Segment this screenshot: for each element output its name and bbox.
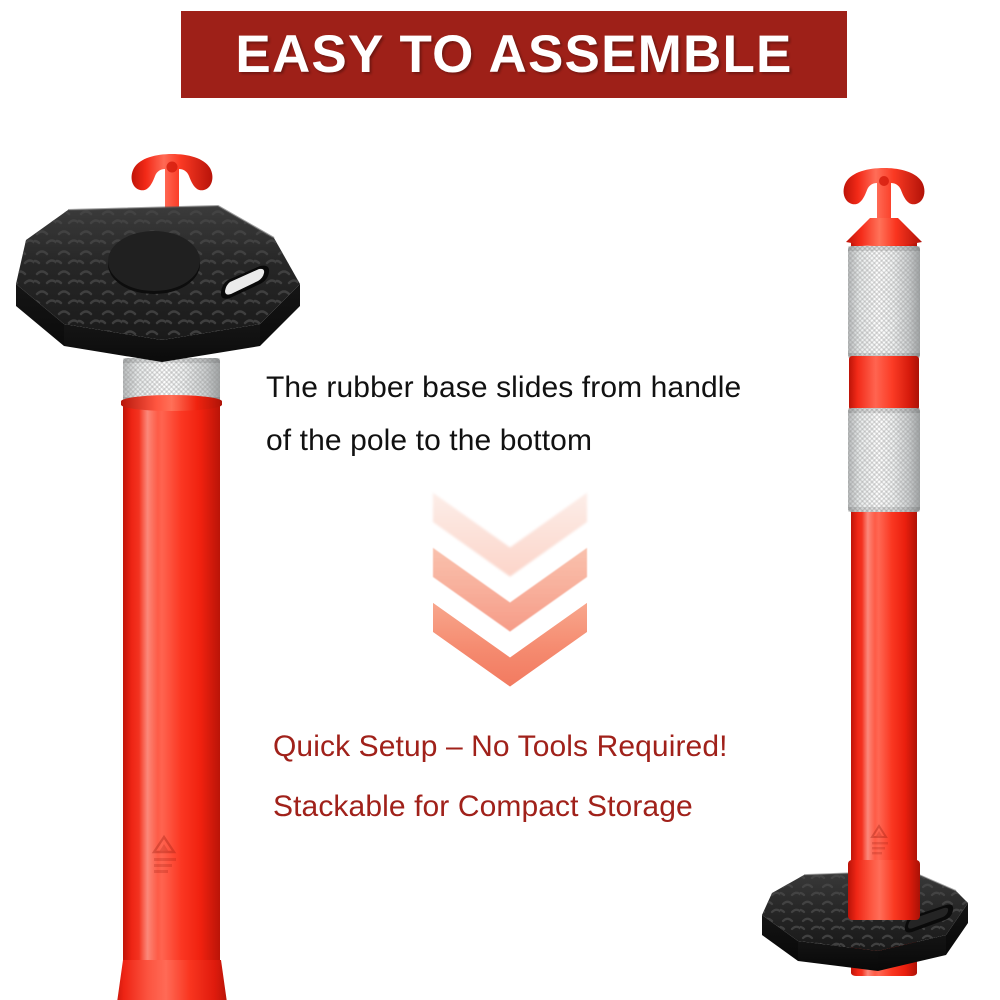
banner-title: EASY TO ASSEMBLE: [235, 24, 792, 85]
right-assembly: [730, 160, 1000, 960]
right-lower-reflective-band: [848, 408, 920, 512]
left-pole-tube: [123, 365, 220, 1000]
left-pole-flared-foot: [105, 960, 239, 1000]
right-pole-emboss-logo: [866, 823, 900, 857]
header-banner: EASY TO ASSEMBLE: [181, 11, 847, 98]
left-assembly: [0, 140, 320, 970]
chevron-down-icon: [425, 593, 595, 689]
right-pole-bottom-collar: [848, 860, 920, 920]
feature-line-2: Stackable for Compact Storage: [273, 790, 693, 824]
infographic-canvas: EASY TO ASSEMBLE: [0, 0, 1000, 1000]
left-pole-collar-ring: [121, 395, 222, 411]
downward-arrows: [425, 483, 595, 698]
right-pole-red-ring: [849, 356, 919, 410]
right-upper-reflective-band: [848, 246, 920, 358]
left-pole-emboss-logo: [146, 833, 192, 879]
left-rubber-base[interactable]: [12, 188, 304, 371]
feature-line-1: Quick Setup – No Tools Required!: [273, 730, 728, 764]
